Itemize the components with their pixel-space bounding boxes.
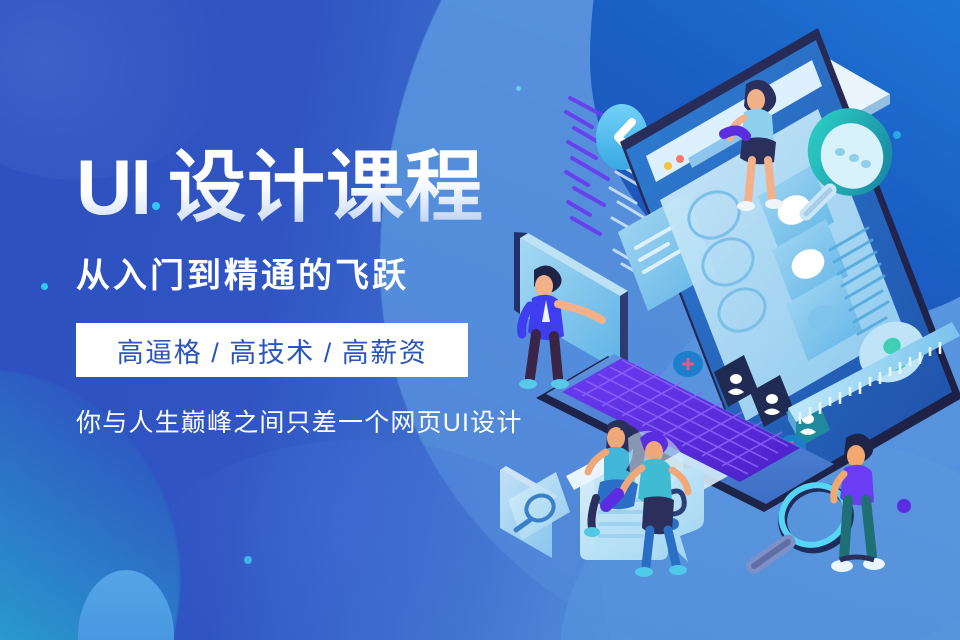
page-title-rest: 设计课程 bbox=[168, 143, 484, 231]
decorative-dot bbox=[897, 499, 911, 513]
tagline-box: 高逼格 / 高技术 / 高薪资 bbox=[76, 323, 468, 377]
tagline-text: 高逼格 / 高技术 / 高薪资 bbox=[117, 331, 428, 370]
title-accent-dot bbox=[152, 202, 160, 210]
footer-tagline: 你与人生巅峰之间只差一个网页UI设计 bbox=[76, 403, 496, 439]
banner: UI设计课程 从入门到精通的飞跃 高逼格 / 高技术 / 高薪资 你与人生巅峰之… bbox=[0, 0, 960, 640]
decorative-dot bbox=[244, 556, 252, 564]
text-block: UI设计课程 从入门到精通的飞跃 高逼格 / 高技术 / 高薪资 你与人生巅峰之… bbox=[76, 148, 496, 439]
illustration-isometric-workspace: WWW bbox=[500, 0, 960, 640]
decorative-dot bbox=[41, 283, 48, 290]
page-title-prefix: UI bbox=[76, 143, 150, 231]
page-subtitle: 从入门到精通的飞跃 bbox=[76, 248, 496, 297]
page-title: UI设计课程 bbox=[76, 148, 496, 226]
